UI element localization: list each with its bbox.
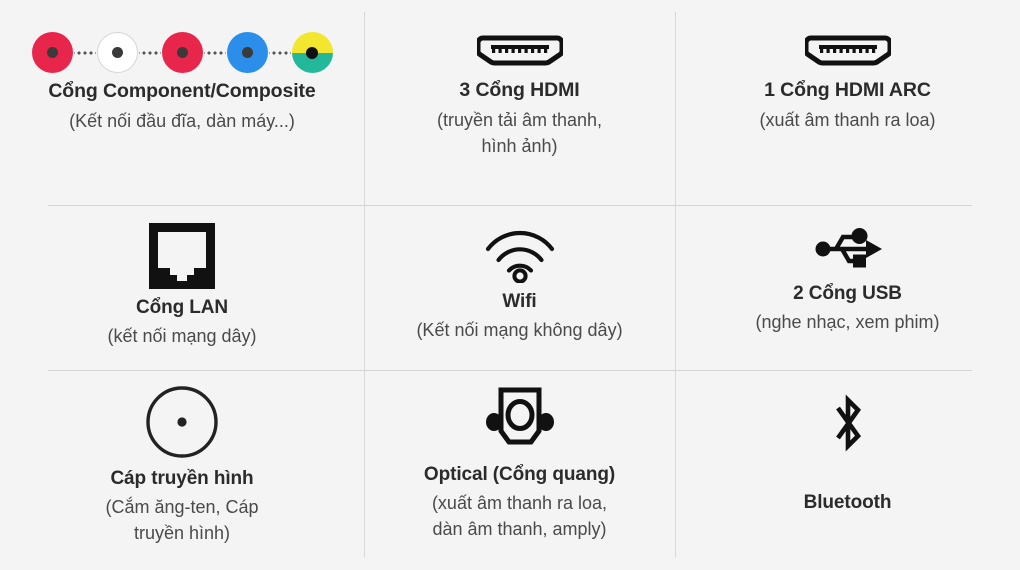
cell-hdmi-arc: 1 Cổng HDMI ARC (xuất âm thanh ra loa) — [675, 0, 1020, 205]
cell-lan: Cổng LAN (kết nối mạng dây) — [0, 205, 364, 370]
hdmi-port-icon — [477, 32, 563, 72]
cell-subtitle: (Kết nối mạng không dây) — [416, 317, 622, 343]
cell-usb: 2 Cổng USB (nghe nhạc, xem phim) — [675, 205, 1020, 370]
cell-title: Wifi — [502, 289, 536, 314]
white-plug-icon — [97, 32, 138, 73]
plug-connector-dots — [74, 51, 96, 55]
vertical-divider-1 — [364, 12, 365, 558]
bluetooth-icon — [826, 390, 870, 456]
horizontal-divider-1 — [48, 205, 972, 206]
blue-plug-icon — [227, 32, 268, 73]
cell-title: Cổng Component/Composite — [48, 79, 315, 105]
cell-subtitle: (Cắm ăng-ten, Cáp truyền hình) — [105, 494, 258, 546]
cell-subtitle: (xuất âm thanh ra loa, dàn âm thanh, amp… — [432, 490, 607, 542]
cell-title: 2 Cổng USB — [793, 281, 902, 306]
cell-title: Bluetooth — [804, 490, 892, 515]
red-plug-1-icon — [32, 32, 73, 73]
cell-wifi: Wifi (Kết nối mạng không dây) — [364, 205, 675, 370]
red-plug-2-icon — [162, 32, 203, 73]
cell-subtitle: (truyền tải âm thanh, hình ảnh) — [437, 107, 602, 159]
optical-toslink-icon — [481, 384, 559, 456]
vertical-divider-2 — [675, 12, 676, 558]
coaxial-antenna-icon — [144, 384, 220, 460]
cell-coaxial-cable: Cáp truyền hình (Cắm ăng-ten, Cáp truyền… — [0, 370, 364, 570]
usb-icon — [812, 223, 884, 275]
cell-subtitle: (kết nối mạng dây) — [107, 323, 256, 349]
cell-optical: Optical (Cổng quang) (xuất âm thanh ra l… — [364, 370, 675, 570]
plug-connector-dots — [269, 51, 291, 55]
cell-subtitle: (Kết nối đầu đĩa, dàn máy...) — [69, 108, 295, 134]
cell-subtitle: (xuất âm thanh ra loa) — [759, 107, 935, 133]
cell-title: Cổng LAN — [136, 295, 228, 320]
cell-title: Optical (Cổng quang) — [424, 462, 615, 487]
cell-title: 1 Cổng HDMI ARC — [764, 78, 931, 104]
plug-connector-dots — [139, 51, 161, 55]
cell-component-composite: Cổng Component/Composite (Kết nối đầu đĩ… — [0, 0, 364, 205]
wifi-icon — [483, 223, 557, 283]
cell-hdmi: 3 Cổng HDMI (truyền tải âm thanh, hình ả… — [364, 0, 675, 205]
component-composite-plugs-icon — [32, 32, 333, 73]
hdmi-arc-port-icon — [805, 32, 891, 72]
cell-subtitle: (nghe nhạc, xem phim) — [755, 309, 939, 335]
cell-bluetooth: Bluetooth — [675, 370, 1020, 570]
plug-connector-dots — [204, 51, 226, 55]
port-feature-grid: Cổng Component/Composite (Kết nối đầu đĩ… — [0, 0, 1020, 570]
cell-title: Cáp truyền hình — [110, 466, 253, 491]
horizontal-divider-2 — [48, 370, 972, 371]
cell-title: 3 Cổng HDMI — [459, 78, 579, 104]
yellow-green-plug-icon — [292, 32, 333, 73]
lan-rj45-port-icon — [149, 223, 215, 289]
